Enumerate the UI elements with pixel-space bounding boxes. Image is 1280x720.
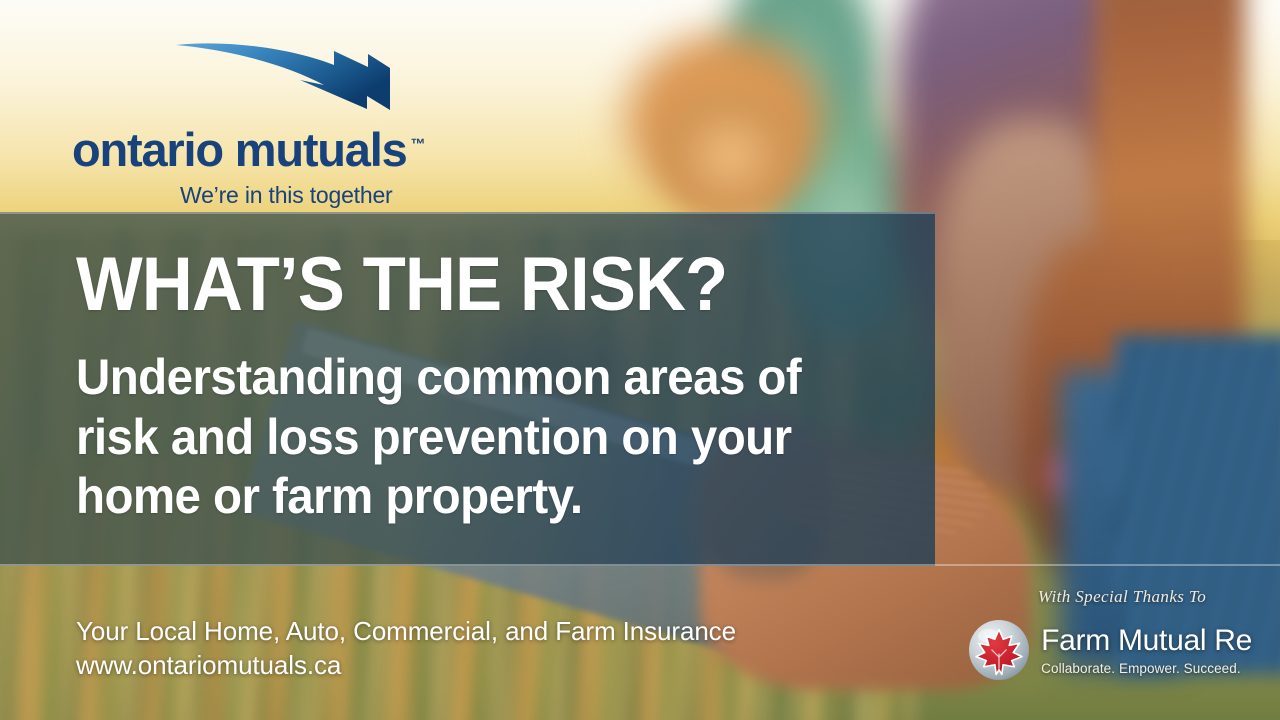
logo-wordmark-text: ontario mutuals xyxy=(72,123,407,176)
subhead-line-3: home or farm property. xyxy=(76,467,865,527)
maple-leaf-globe-icon xyxy=(967,618,1031,682)
sponsor-name: Farm Mutual Re xyxy=(1041,626,1252,656)
subhead-line-2: risk and loss prevention on your xyxy=(76,408,865,468)
overlay-bottom-divider xyxy=(0,564,1280,566)
footer-website-link[interactable]: www.ontariomutuals.ca xyxy=(76,648,736,682)
presentation-slide: ontario mutuals™ We’re in this together … xyxy=(0,0,1280,720)
logo-wordmark: ontario mutuals™ xyxy=(72,126,432,173)
logo-tagline: We’re in this together xyxy=(180,182,393,209)
sponsor-tagline: Collaborate. Empower. Succeed. xyxy=(1041,661,1252,676)
sponsor-text-block: Farm Mutual Re Collaborate. Empower. Suc… xyxy=(1041,624,1252,676)
footer-services-line: Your Local Home, Auto, Commercial, and F… xyxy=(76,614,736,648)
farm-mutual-re-logo: Farm Mutual Re Collaborate. Empower. Suc… xyxy=(967,618,1252,682)
subhead-line-1: Understanding common areas of xyxy=(76,348,865,408)
ontario-mutuals-logo: ontario mutuals™ We’re in this together xyxy=(72,30,432,190)
page-title: WHAT’S THE RISK? xyxy=(76,248,727,322)
hero-subheading: Understanding common areas of risk and l… xyxy=(76,348,865,527)
sponsor-thanks-label: With Special Thanks To xyxy=(997,587,1247,607)
overlay-top-divider xyxy=(0,212,935,214)
swoosh-arrow-icon xyxy=(176,38,391,120)
trademark-symbol: ™ xyxy=(411,136,426,153)
footer-tagline: Your Local Home, Auto, Commercial, and F… xyxy=(76,614,736,683)
